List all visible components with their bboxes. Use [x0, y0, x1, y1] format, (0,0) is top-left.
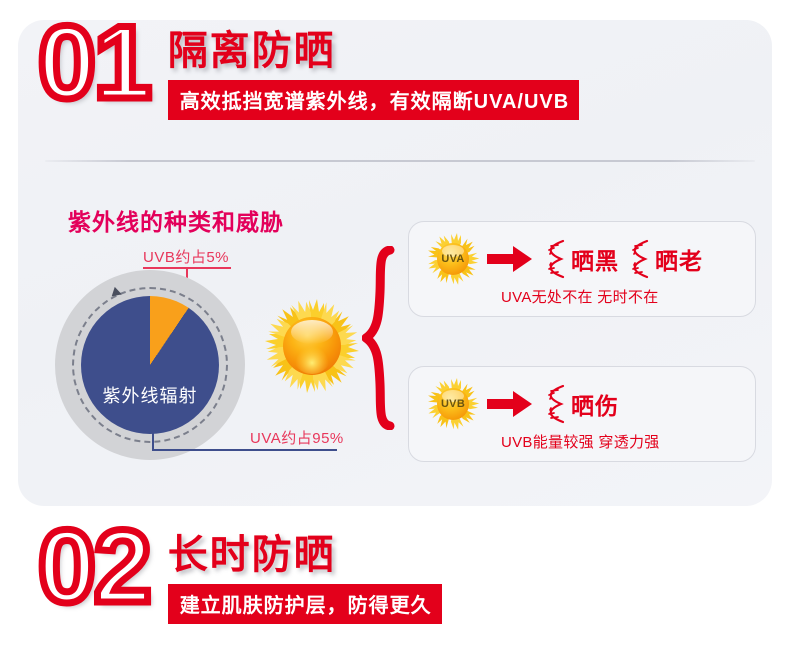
- dna-helix-icon: [625, 239, 651, 279]
- section-02-header: 02 长时防晒 建立肌肤防护层，防得更久: [38, 518, 442, 624]
- section-title-02: 长时防晒: [168, 534, 442, 577]
- uva-callout-label: UVA约占95%: [250, 427, 344, 448]
- section-number-01: 01: [38, 14, 168, 114]
- page-root: 01 隔离防晒 高效抵挡宽谱紫外线，有效隔断UVA/UVB 紫外线的种类和威胁 …: [0, 0, 790, 653]
- right-arrow-icon: [487, 244, 533, 274]
- uva-sun-icon: UVA: [425, 231, 481, 287]
- uva-card-note: UVA无处不在 无时不在: [501, 286, 659, 307]
- uva-badge-label: UVA: [425, 231, 481, 287]
- uva-leader-line-vertical: [152, 403, 154, 451]
- uvb-card-row: UVB 晒伤: [425, 379, 625, 429]
- section-number-02: 02: [38, 518, 168, 618]
- pie-center-label: 紫外线辐射: [81, 382, 219, 408]
- uva-effect-2: 晒老: [655, 242, 703, 276]
- section-01-head-texts: 隔离防晒 高效抵挡宽谱紫外线，有效隔断UVA/UVB: [168, 14, 580, 120]
- dna-helix-icon: [541, 239, 567, 279]
- dna-helix-icon: [541, 384, 567, 424]
- uvb-sun-icon: UVB: [425, 376, 481, 432]
- section-title-01: 隔离防晒: [168, 30, 580, 73]
- section-01-header: 01 隔离防晒 高效抵挡宽谱紫外线，有效隔断UVA/UVB: [38, 14, 579, 120]
- uva-effect-1: 晒黑: [571, 242, 619, 276]
- uv-pie-chart: 紫外线辐射: [55, 270, 245, 460]
- uvb-effect-card: UVB 晒伤 UVB能量较强 穿透力强: [408, 366, 756, 462]
- section-subtitle-01: 高效抵挡宽谱紫外线，有效隔断UVA/UVB: [168, 80, 580, 120]
- chart-title: 紫外线的种类和威胁: [68, 203, 284, 237]
- section-subtitle-02: 建立肌肤防护层，防得更久: [168, 584, 442, 624]
- uva-leader-line-horizontal: [152, 449, 337, 451]
- uva-effect-card: UVA 晒黑 晒老 UVA无处不在 无时不在: [408, 221, 756, 317]
- uvb-badge-label: UVB: [425, 376, 481, 432]
- sun-icon: [262, 296, 362, 396]
- uva-card-row: UVA 晒黑 晒老: [425, 234, 709, 284]
- header-divider: [45, 160, 755, 162]
- curly-brace-icon: [362, 246, 396, 430]
- uvb-card-note: UVB能量较强 穿透力强: [501, 431, 660, 452]
- pie-slices: 紫外线辐射: [81, 296, 219, 434]
- uvb-effect-1: 晒伤: [571, 387, 619, 421]
- right-arrow-icon: [487, 389, 533, 419]
- section-02-head-texts: 长时防晒 建立肌肤防护层，防得更久: [168, 518, 442, 624]
- uvb-callout-label: UVB约占5%: [143, 246, 229, 267]
